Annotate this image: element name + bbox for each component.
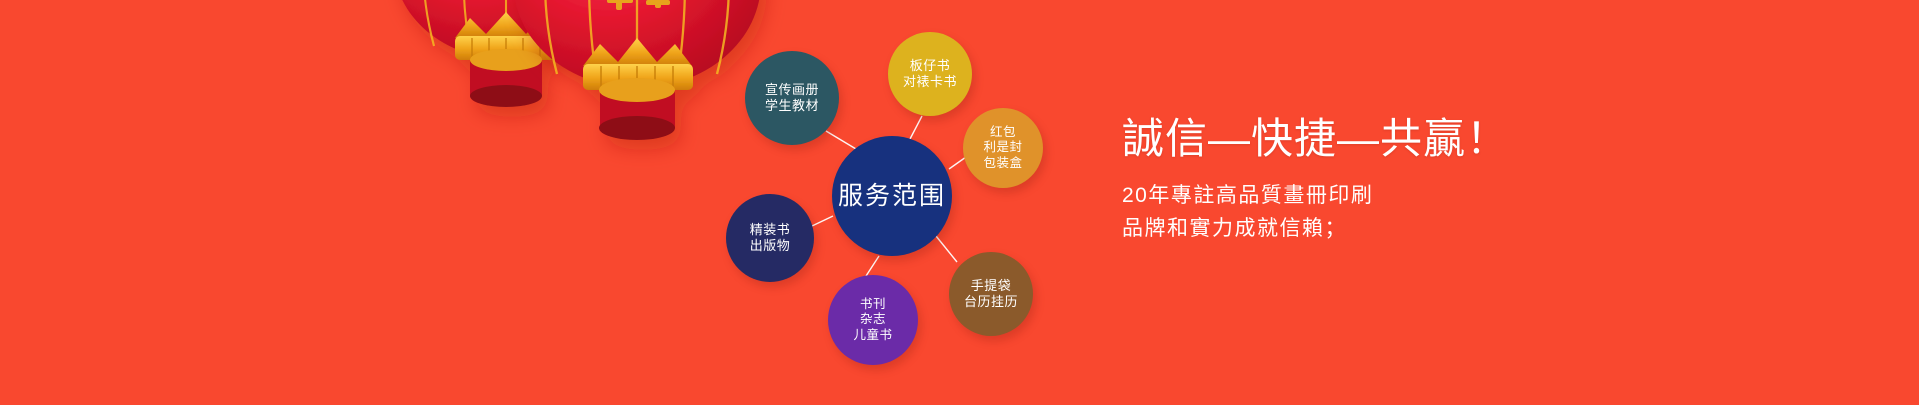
node-magazine-line-2: 杂志 [860, 312, 886, 327]
node-board-book-line-1: 板仔书 [910, 58, 951, 74]
diagram-center-node[interactable]: 服务范围 [832, 136, 952, 256]
node-red-envelope-line-1: 红包 [990, 125, 1016, 140]
diagram-center-label: 服务范围 [838, 181, 946, 212]
subline-2: 品牌和實力成就信賴； [1122, 213, 1509, 246]
node-hardcover-line-2: 出版物 [750, 238, 791, 254]
subline-1: 20年專註高品質畫冊印刷 [1122, 180, 1509, 213]
node-red-envelope-line-3: 包装盒 [983, 156, 1022, 171]
promo-banner: 服务范围 宣传画册 学生教材 板仔书 对裱卡书 红包 利是封 包装盒 手提袋 台… [0, 0, 1919, 405]
connector-line [936, 236, 957, 262]
node-textbook[interactable]: 宣传画册 学生教材 [745, 51, 839, 145]
node-textbook-line-2: 学生教材 [765, 98, 819, 114]
headline: 誠信—快捷—共贏！ [1122, 118, 1509, 160]
node-magazine-line-1: 书刊 [860, 297, 886, 312]
connector-line [826, 131, 856, 149]
connector-line [949, 157, 966, 169]
connector-line [812, 216, 833, 226]
node-handbag-calendar-line-1: 手提袋 [971, 278, 1012, 294]
node-red-envelope-line-2: 利是封 [983, 140, 1022, 155]
node-red-envelope[interactable]: 红包 利是封 包装盒 [963, 108, 1043, 188]
node-board-book[interactable]: 板仔书 对裱卡书 [888, 32, 972, 116]
connector-line [866, 256, 879, 276]
node-textbook-line-1: 宣传画册 [765, 82, 819, 98]
node-hardcover[interactable]: 精装书 出版物 [726, 194, 814, 282]
node-hardcover-line-1: 精装书 [750, 222, 791, 238]
node-magazine[interactable]: 书刊 杂志 儿童书 [828, 275, 918, 365]
connector-line [910, 116, 922, 139]
node-handbag-calendar-line-2: 台历挂历 [964, 294, 1018, 310]
node-handbag-calendar[interactable]: 手提袋 台历挂历 [949, 252, 1033, 336]
node-magazine-line-3: 儿童书 [853, 328, 892, 343]
marketing-copy: 誠信—快捷—共贏！ 20年專註高品質畫冊印刷 品牌和實力成就信賴； [1122, 118, 1509, 245]
node-board-book-line-2: 对裱卡书 [903, 74, 957, 90]
